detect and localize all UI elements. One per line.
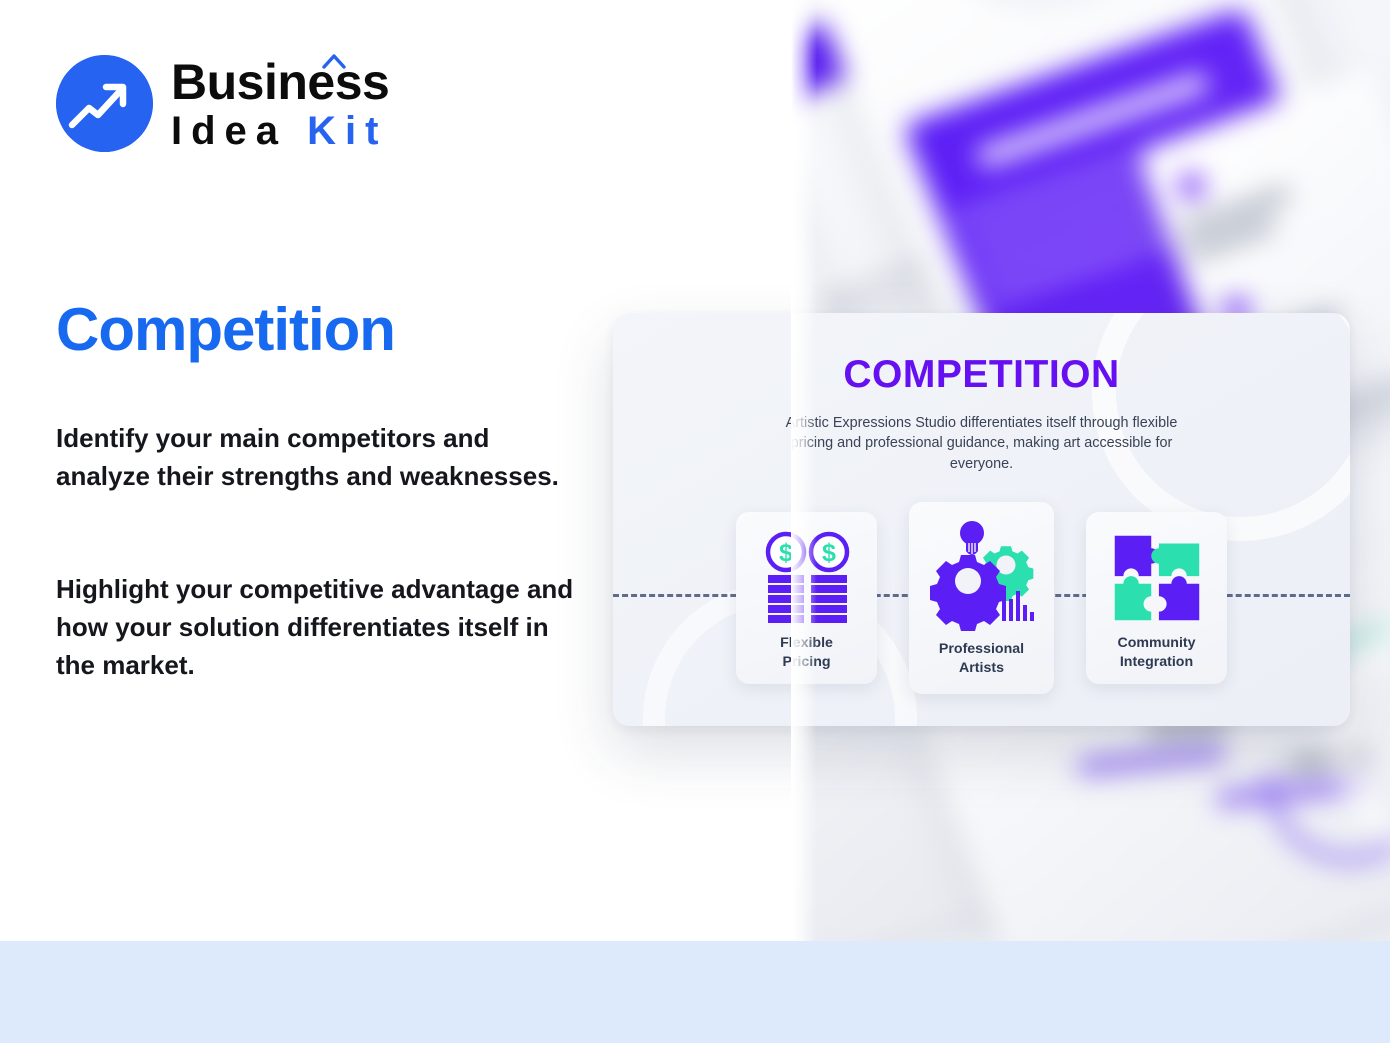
preview-title: COMPETITION bbox=[613, 353, 1350, 397]
growth-chart-circle-icon bbox=[56, 55, 153, 152]
feature-tile-community-integration[interactable]: Community Integration bbox=[1086, 512, 1227, 684]
feature-tile-label: Professional Artists bbox=[939, 640, 1024, 678]
brand-logo[interactable]: Business Idea Kit bbox=[56, 55, 389, 152]
bg-dot bbox=[1175, 170, 1208, 203]
tile-label-line2: Integration bbox=[1120, 654, 1193, 670]
brand-line-idea-kit: Idea Kit bbox=[171, 111, 389, 151]
tile-label-line2: Artists bbox=[959, 660, 1004, 676]
bg-purple-block bbox=[791, 285, 807, 485]
gears-lightbulb-chart-icon bbox=[926, 516, 1038, 634]
brand-line-business: Business bbox=[171, 57, 389, 107]
puzzle-pieces-icon bbox=[1109, 528, 1205, 628]
svg-text:$: $ bbox=[822, 539, 836, 567]
page-title: Competition bbox=[56, 295, 395, 364]
slide-preview-card[interactable]: COMPETITION Artistic Expressions Studio … bbox=[613, 313, 1350, 726]
brand-line2-accent: Kit bbox=[307, 109, 387, 153]
feature-tiles: $ $ bbox=[613, 503, 1350, 693]
slide-canvas: Business Idea Kit Competition Identify y… bbox=[0, 0, 1390, 1043]
tile-label-line1: Community bbox=[1117, 635, 1195, 651]
bg-ring-decoration bbox=[886, 0, 1182, 35]
description-paragraph-2: Highlight your competitive advantage and… bbox=[56, 571, 586, 685]
preview-subtitle: Artistic Expressions Studio differentiat… bbox=[782, 413, 1182, 474]
arrow-accent-icon bbox=[321, 52, 347, 70]
brand-wordmark: Business Idea Kit bbox=[171, 57, 389, 151]
brand-line1-text: Business bbox=[171, 54, 389, 110]
brand-line2-dark: Idea bbox=[171, 109, 287, 153]
bg-lilac-bar bbox=[1076, 744, 1227, 776]
tile-label-line1: Professional bbox=[939, 641, 1024, 657]
feature-tile-professional-artists[interactable]: Professional Artists bbox=[909, 502, 1054, 694]
bottom-band bbox=[0, 941, 1390, 1043]
description-paragraph-1: Identify your main competitors and analy… bbox=[56, 420, 586, 496]
feature-tile-label: Community Integration bbox=[1117, 634, 1195, 672]
